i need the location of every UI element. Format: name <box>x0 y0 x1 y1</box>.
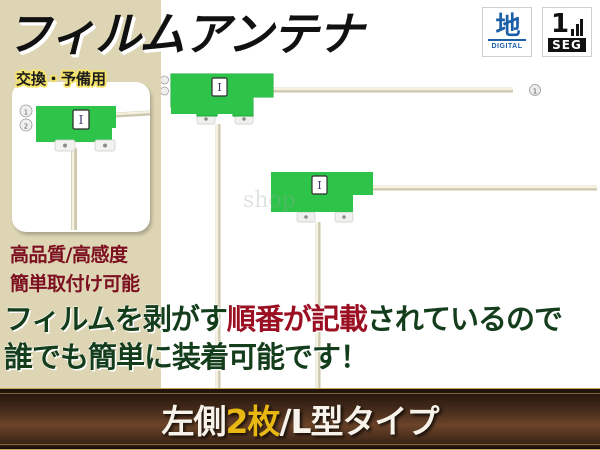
feature-line-install: 簡単取付け可能 <box>10 269 140 296</box>
svg-text:1: 1 <box>533 88 537 96</box>
digital-logo-caption: DIGITAL <box>488 39 526 51</box>
closeup-antenna-art: I 1 2 <box>12 82 150 232</box>
banner-seg-count: 2枚 <box>225 402 279 441</box>
description-line-2: 誰でも簡単に装着可能です！ <box>4 338 562 376</box>
svg-text:2: 2 <box>24 123 28 131</box>
svg-text:1: 1 <box>24 109 28 117</box>
description-text: フィルムを剥がす順番が記載されているので 誰でも簡単に装着可能です！ <box>4 300 562 376</box>
svg-text:I: I <box>79 113 84 127</box>
bottom-banner-inner: 左側2枚/L型タイプ <box>0 393 600 445</box>
banner-seg-right: /L型タイプ <box>279 402 438 441</box>
banner-seg-left: 左側 <box>161 402 225 441</box>
bottom-banner: 左側2枚/L型タイプ <box>0 388 600 450</box>
desc-seg-b: されているので <box>367 302 562 336</box>
oneseg-number: 1 <box>551 12 569 36</box>
status-badge: 交換・予備用 <box>16 68 106 89</box>
oneseg-caption: SEG <box>548 38 586 52</box>
oneseg-logo-top: 1 <box>551 12 583 36</box>
desc-seg-highlight: 順番が記載 <box>227 302 367 336</box>
svg-text:I: I <box>317 179 321 192</box>
desc-seg-a: フィルムを剥がす <box>4 302 227 336</box>
digital-logo-glyph: 地 <box>495 13 518 38</box>
description-line-1: フィルムを剥がす順番が記載されているので <box>4 300 562 338</box>
product-banner-image: I I 1 shop フィルム <box>0 0 600 450</box>
signal-bars-icon <box>571 18 583 36</box>
oneseg-logo: 1 SEG <box>542 7 592 57</box>
svg-text:I: I <box>217 81 221 94</box>
bottom-banner-text: 左側2枚/L型タイプ <box>161 395 438 443</box>
feature-line-quality: 高品質/高感度 <box>10 240 127 267</box>
certification-logos: 地 DIGITAL 1 SEG <box>482 7 592 57</box>
digital-broadcast-logo: 地 DIGITAL <box>482 7 532 57</box>
page-title: フィルムアンテナ <box>6 0 362 64</box>
closeup-inset-card: I 1 2 <box>12 82 150 232</box>
